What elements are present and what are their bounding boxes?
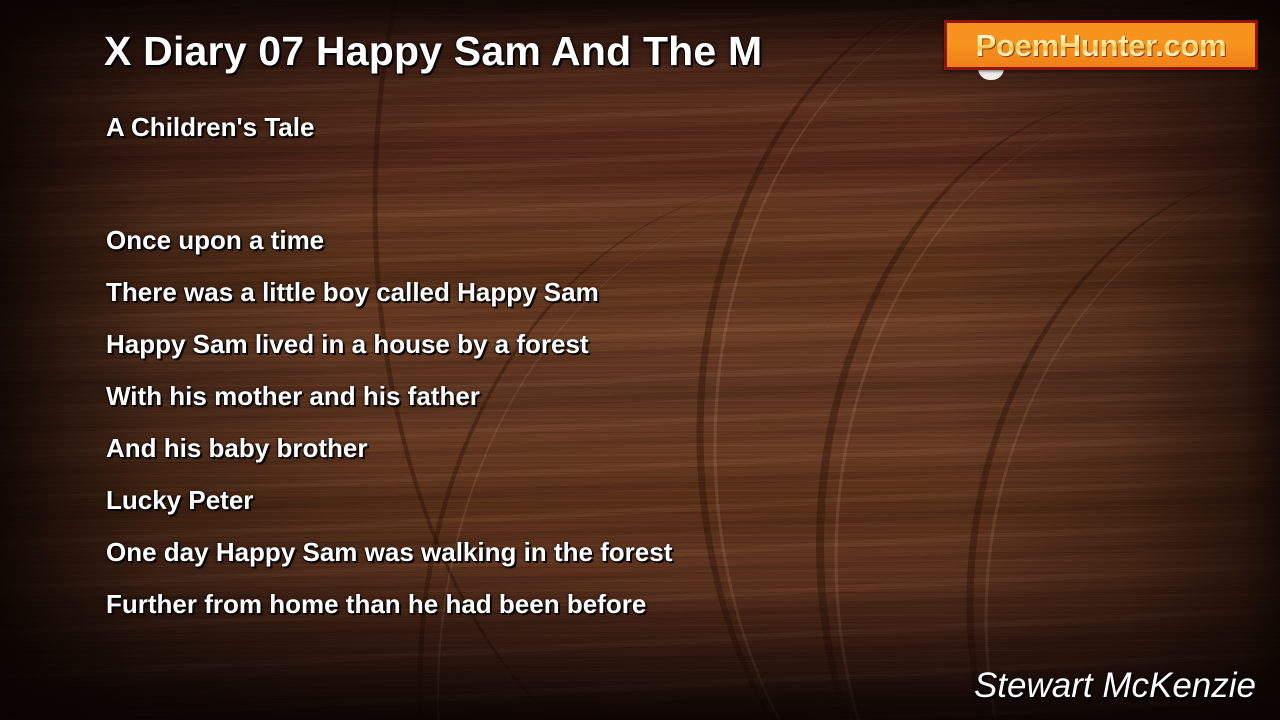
poem-line: One day Happy Sam was walking in the for… [106,526,1006,578]
video-frame: X Diary 07 Happy Sam And The M A Childre… [0,0,1280,720]
content-layer: X Diary 07 Happy Sam And The M A Childre… [0,0,1280,720]
poem-line: Happy Sam lived in a house by a forest [106,318,1006,370]
poem-subtitle: A Children's Tale [106,112,314,143]
poem-line: And his baby brother [106,422,1006,474]
poem-line: Lucky Peter [106,474,1006,526]
poem-line: There was a little boy called Happy Sam [106,266,1006,318]
author-name: Stewart McKenzie [974,666,1256,706]
page-title: X Diary 07 Happy Sam And The M [104,28,762,75]
poemhunter-logo-text: PoemHunter.com [976,30,1227,61]
poem-line: Further from home than he had been befor… [106,578,1006,630]
poem-line: Once upon a time [106,214,1006,266]
poem-line: With his mother and his father [106,370,1006,422]
poem-body: Once upon a time There was a little boy … [106,214,1006,630]
poemhunter-logo[interactable]: PoemHunter.com [944,20,1258,70]
